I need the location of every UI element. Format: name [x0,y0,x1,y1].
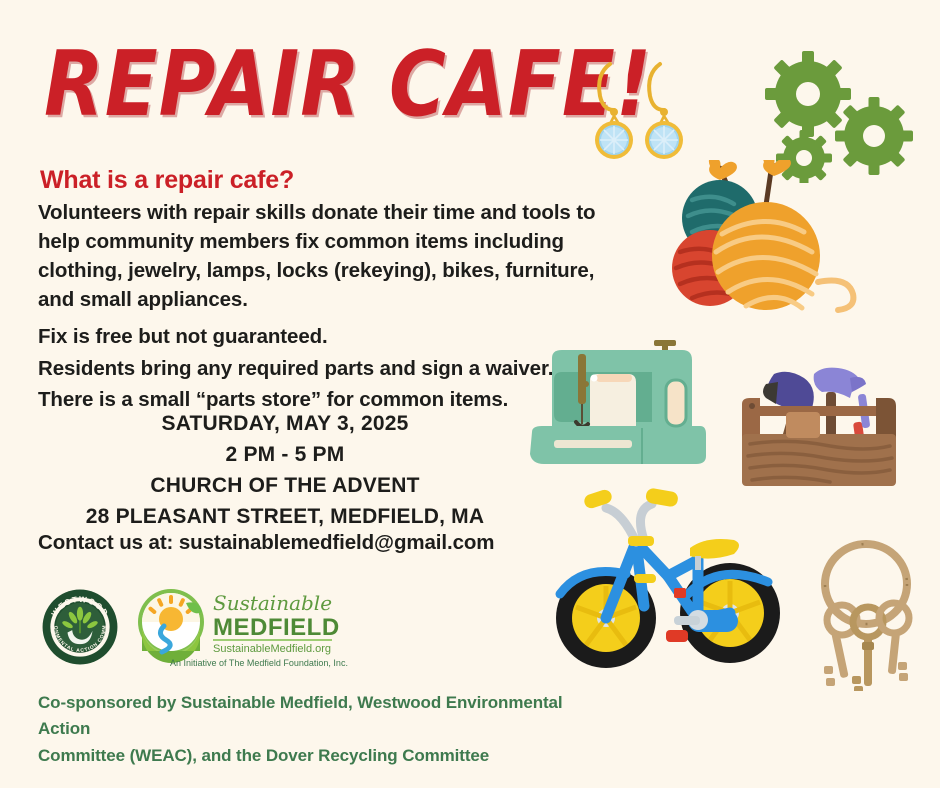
cosponsor-line-2: Committee (WEAC), and the Dover Recyclin… [38,743,618,769]
sm-tagline: An Initiative of The Medfield Foundation… [170,658,348,668]
event-details-block: SATURDAY, MAY 3, 2025 2 PM - 5 PM CHURCH… [40,408,530,532]
earrings-icon [588,52,698,172]
cosponsor-line-1: Co-sponsored by Sustainable Medfield, We… [38,690,618,743]
event-address: 28 PLEASANT STREET, MEDFIELD, MA [40,501,530,532]
body-line-fix-free: Fix is free but not guaranteed. [38,322,598,351]
body-line-parts-waiver: Residents bring any required parts and s… [38,354,598,383]
toolbox-icon [726,352,926,492]
sponsor-logos: WESTWOOD ENVIRONMENTAL ACTION COMMITTEE [36,586,356,672]
poster-canvas: REPAIR CAFE! What is a repair cafe? Volu… [0,0,940,788]
sustainable-medfield-logo: Sustainable MEDFIELD SustainableMedfield… [134,586,349,670]
bicycle-icon [548,478,800,678]
body-text-block: Volunteers with repair skills donate the… [38,198,598,416]
event-venue: CHURCH OF THE ADVENT [40,470,530,501]
contact-line[interactable]: Contact us at: sustainablemedfield@gmail… [38,531,494,555]
page-title: REPAIR CAFE! [44,42,652,127]
weac-logo: WESTWOOD ENVIRONMENTAL ACTION COMMITTEE [41,588,119,666]
section-heading-what-is-a-repair-cafe: What is a repair cafe? [40,166,294,195]
sm-website: SustainableMedfield.org [213,643,331,655]
event-time: 2 PM - 5 PM [40,439,530,470]
body-paragraph: Volunteers with repair skills donate the… [38,198,598,314]
sm-word-bold: MEDFIELD [213,614,340,641]
sewing-machine-icon [524,336,719,476]
event-date: SATURDAY, MAY 3, 2025 [40,408,530,439]
cosponsor-note: Co-sponsored by Sustainable Medfield, We… [38,690,618,769]
yarn-icon [648,160,873,330]
sm-emblem [138,589,204,663]
sm-word-script: Sustainable [213,591,332,615]
keys-icon [806,536,928,691]
